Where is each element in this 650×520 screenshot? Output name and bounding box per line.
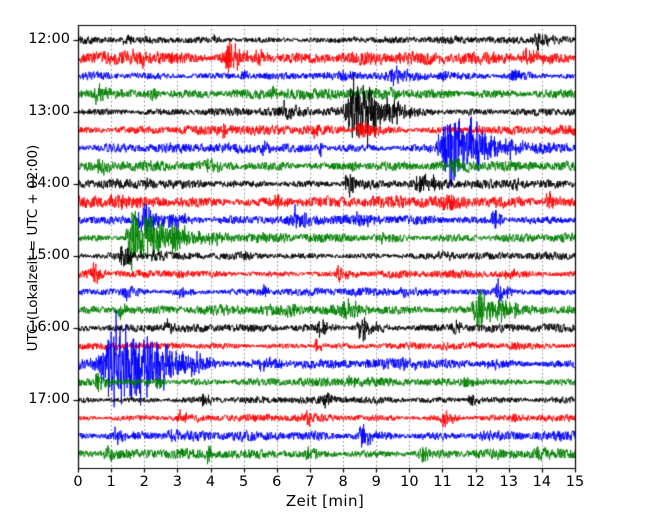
y-tick-label: 16:00 [6,319,70,335]
y-tick-label: 12:00 [6,31,70,47]
x-axis-label: Zeit [min] [0,492,650,510]
y-tick-label: 17:00 [6,391,70,407]
y-tick-label: 15:00 [6,247,70,263]
y-tick-label: 14:00 [6,175,70,191]
x-tick-label: 15 [555,474,595,490]
y-tick-label: 13:00 [6,103,70,119]
seismogram-plot-canvas[interactable] [0,0,650,520]
seismogram-figure: Zeit [min] UTC (Lokalzeit = UTC + 02:00)… [0,0,650,520]
